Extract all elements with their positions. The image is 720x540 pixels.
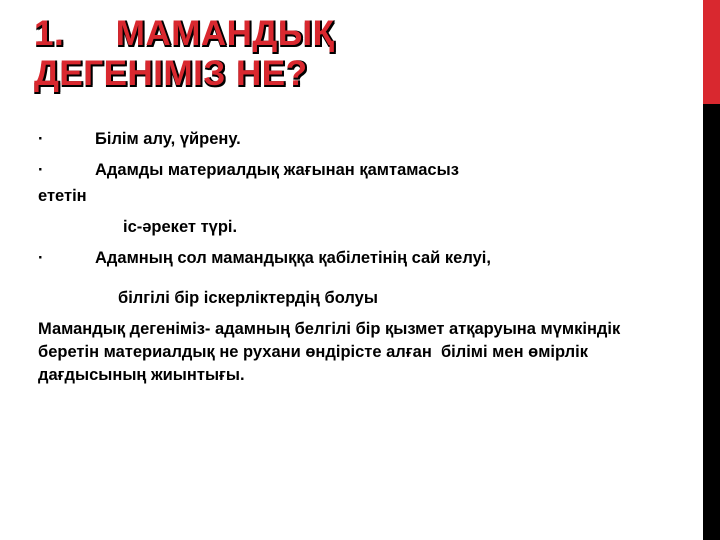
bullet-marker-icon: · — [38, 128, 95, 150]
slide-canvas: 1. МАМАНДЫҚ ДЕГЕНІМІЗ НЕ? ·Білім алу, үй… — [0, 0, 720, 540]
bullet-item-3: ·Адамның сол мамандыққа қабілетінің сай … — [38, 247, 668, 269]
slide-title: 1. МАМАНДЫҚ ДЕГЕНІМІЗ НЕ? — [34, 14, 674, 94]
title-line-2: ДЕГЕНІМІЗ НЕ? — [34, 54, 674, 94]
indented-line-is-areket: іс-әрекет түрі. — [38, 216, 668, 238]
continuation-line-ететін: ететін — [38, 185, 668, 207]
bullet-item-1: ·Білім алу, үйрену. — [38, 128, 668, 150]
right-black-accent-bar — [703, 104, 720, 540]
right-red-accent-bar — [703, 0, 720, 104]
indented-line-bilgili: білгілі бір іскерліктердің болуы — [38, 287, 668, 309]
bullet-item-1-text: Білім алу, үйрену. — [95, 130, 241, 148]
title-line-1: 1. МАМАНДЫҚ — [34, 14, 674, 54]
bullet-item-3-text: Адамның сол мамандыққа қабілетінің сай к… — [95, 249, 491, 267]
bullet-marker-icon: · — [38, 159, 95, 181]
summary-paragraph: Мамандық дегеніміз- адамның белгілі бір … — [38, 318, 668, 387]
bullet-marker-icon: · — [38, 247, 95, 269]
slide-body: ·Білім алу, үйрену. ·Адамды материалдық … — [38, 128, 668, 396]
bullet-item-2-text: Адамды материалдық жағынан қамтамасыз — [95, 161, 459, 179]
bullet-item-2: ·Адамды материалдық жағынан қамтамасыз — [38, 159, 668, 181]
